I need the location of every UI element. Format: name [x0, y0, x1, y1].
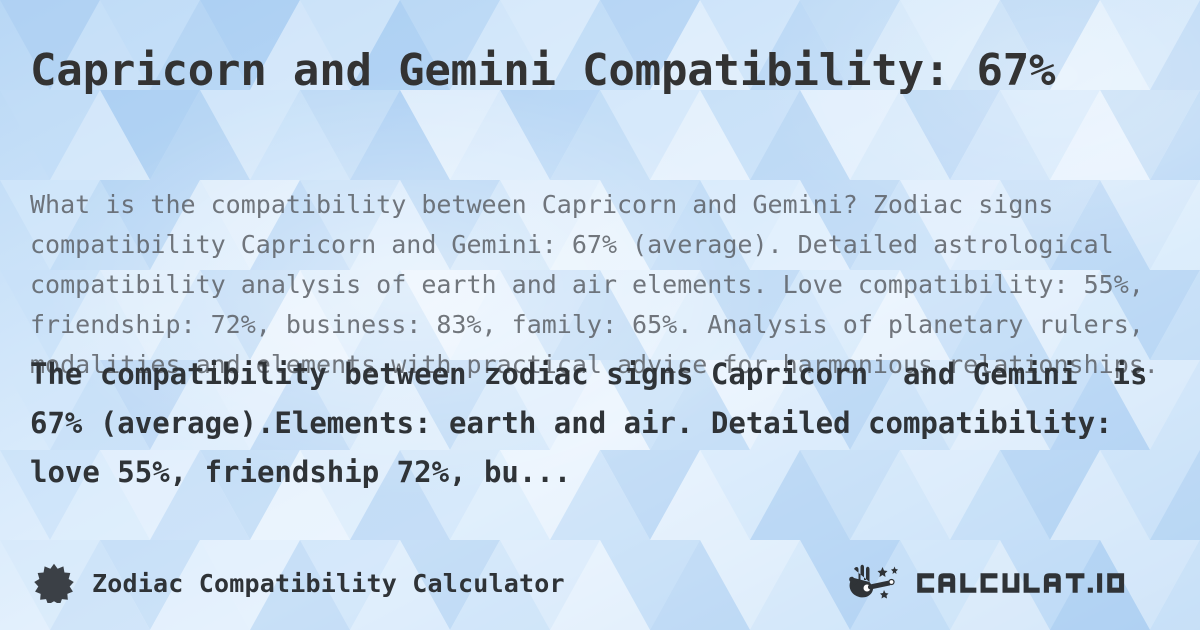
- compatibility-summary: The compatibility between zodiac signs C…: [30, 350, 1170, 497]
- site-logo-wordmark: [913, 564, 1166, 602]
- brand-block: Zodiac Compatibility Calculator: [34, 563, 565, 603]
- brand-name-label: Zodiac Compatibility Calculator: [92, 569, 565, 598]
- og-card: Capricorn and Gemini Compatibility: 67% …: [0, 0, 1200, 630]
- card-footer: Zodiac Compatibility Calculator: [0, 552, 1200, 614]
- hand-magic-wand-icon: [847, 562, 905, 604]
- card-content: Capricorn and Gemini Compatibility: 67% …: [0, 0, 1200, 630]
- page-title: Capricorn and Gemini Compatibility: 67%: [30, 44, 1170, 98]
- site-logo: [847, 562, 1166, 604]
- starburst-icon: [34, 563, 74, 603]
